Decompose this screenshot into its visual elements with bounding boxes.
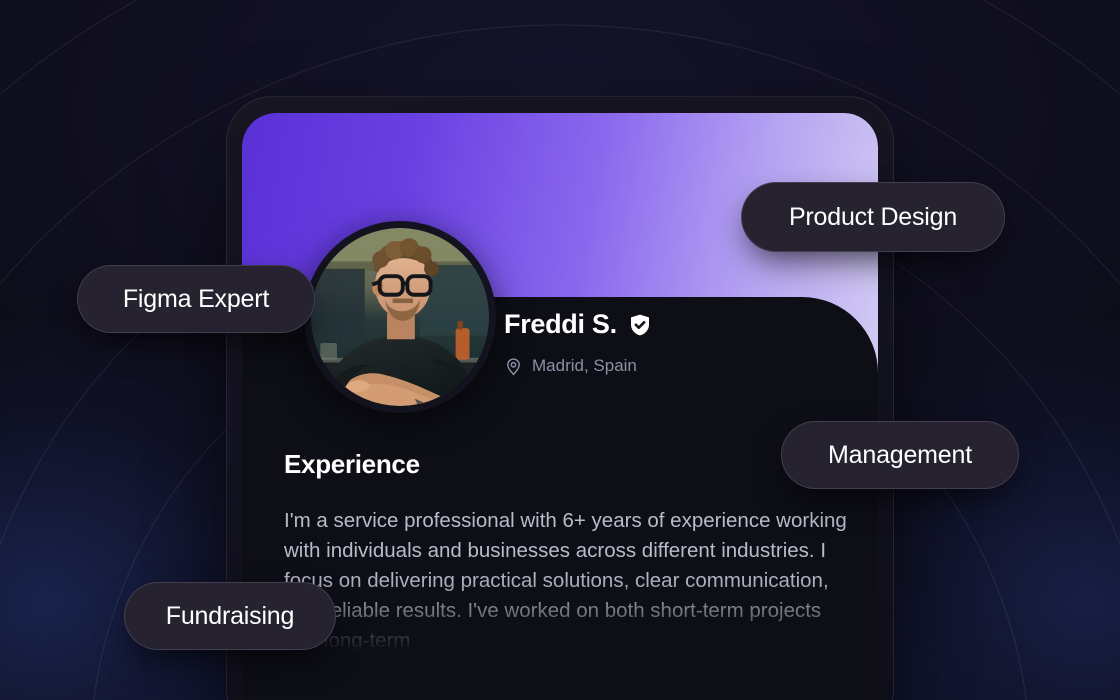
location-row: Madrid, Spain [504,356,652,376]
avatar[interactable] [304,221,496,413]
skill-pill-figma-expert[interactable]: Figma Expert [77,265,315,333]
skill-pill-label: Management [828,441,972,470]
background-stage: Freddi S. Madrid, Spain Experience [0,0,1120,700]
experience-section: Experience I'm a service professional wi… [284,449,848,656]
shield-check-icon [628,313,652,337]
skill-pill-label: Figma Expert [123,285,269,314]
location-label: Madrid, Spain [532,356,637,376]
skill-pill-label: Product Design [789,203,957,232]
skill-pill-label: Fundraising [166,602,294,631]
map-pin-icon [504,357,523,376]
skill-pill-management[interactable]: Management [781,421,1019,489]
skill-pill-fundraising[interactable]: Fundraising [124,582,336,650]
experience-heading: Experience [284,449,848,480]
name-row: Freddi S. [504,309,652,340]
identity-block: Freddi S. Madrid, Spain [504,309,652,376]
page-title: Freddi S. [504,309,617,340]
skill-pill-product-design[interactable]: Product Design [741,182,1005,252]
experience-body-text: I'm a service professional with 6+ years… [284,506,860,656]
